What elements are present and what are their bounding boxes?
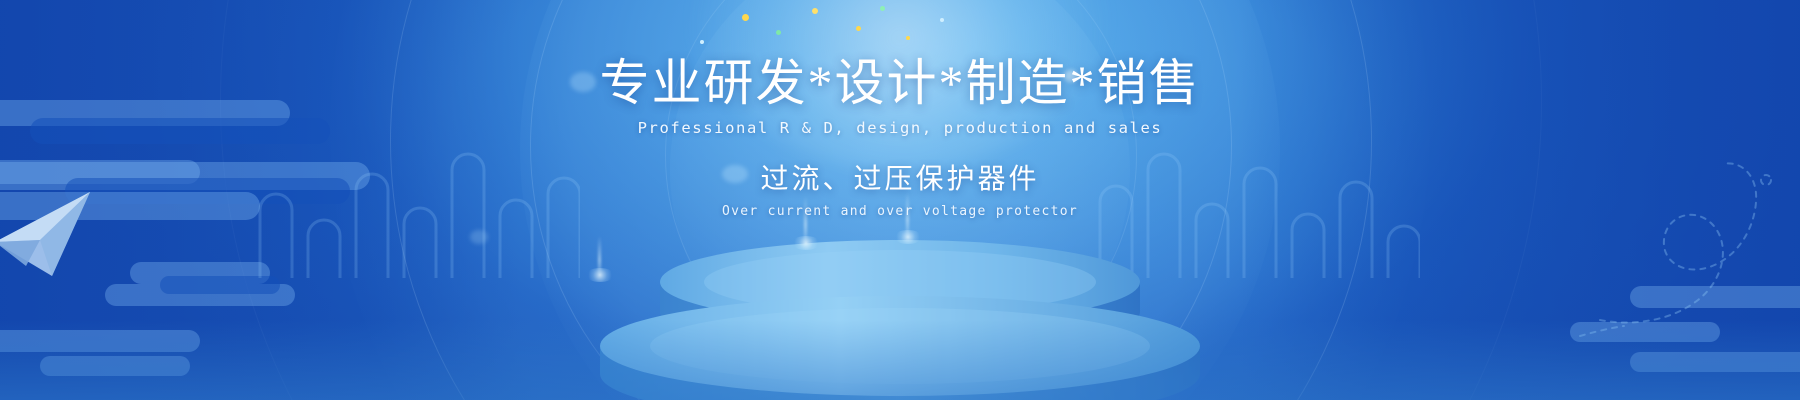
confetti-dot — [812, 8, 818, 14]
hero-banner: 专业研发*设计*制造*销售 Professional R & D, design… — [0, 0, 1800, 400]
confetti-dot — [880, 6, 885, 11]
banner-copy: 专业研发*设计*制造*销售 Professional R & D, design… — [0, 58, 1800, 219]
confetti-dot — [742, 14, 749, 21]
confetti-dot — [776, 30, 781, 35]
light-beam-glow — [586, 268, 614, 282]
confetti-dot — [906, 36, 910, 40]
light-beam-glow — [792, 236, 820, 250]
confetti-dot — [856, 26, 861, 31]
confetti-dot — [940, 18, 944, 22]
subheadline-english: Over current and over voltage protector — [0, 204, 1800, 219]
light-beam-glow — [894, 230, 922, 244]
headline-chinese: 专业研发*设计*制造*销售 — [0, 58, 1800, 108]
subheadline-chinese: 过流、过压保护器件 — [0, 157, 1800, 197]
confetti-dot — [700, 40, 704, 44]
headline-english: Professional R & D, design, production a… — [0, 119, 1800, 137]
